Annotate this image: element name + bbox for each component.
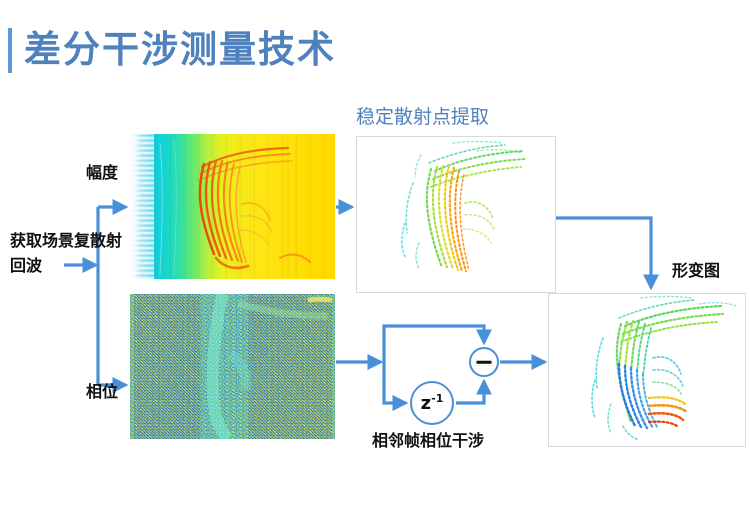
arrow-to-delay-block xyxy=(384,362,406,403)
label-extraction: 稳定散射点提取 xyxy=(356,107,489,128)
extraction-scatterer-points xyxy=(357,137,555,292)
title-accent-bar xyxy=(8,28,12,73)
deformation-field-points xyxy=(549,294,745,446)
page-title: 差分干涉测量技术 xyxy=(24,24,336,76)
delay-block-label: z-1 xyxy=(412,392,452,414)
label-interference: 相邻帧相位干涉 xyxy=(372,430,484,451)
subtract-node xyxy=(469,347,499,377)
amplitude-left-saturation xyxy=(132,134,154,279)
phase-image xyxy=(130,294,335,439)
deformation-image xyxy=(548,293,746,447)
phase-structure-overlay xyxy=(130,294,335,439)
amplitude-scan-streaks xyxy=(130,134,335,279)
delay-block-symbol: z xyxy=(421,393,431,414)
amplitude-image xyxy=(130,134,335,279)
delay-block-exponent: -1 xyxy=(431,392,443,405)
label-input-signal: 获取场景复散射回波 xyxy=(10,228,126,278)
extraction-image xyxy=(356,136,556,293)
label-phase: 相位 xyxy=(86,381,118,402)
delay-block-node: z-1 xyxy=(410,381,454,425)
arrow-extraction-to-deformation xyxy=(556,218,651,288)
arrow-delay-to-subtract xyxy=(456,381,484,403)
minus-icon xyxy=(477,361,492,364)
slide-canvas: 差分干涉测量技术 xyxy=(0,0,750,529)
label-deformation: 形变图 xyxy=(672,260,720,281)
label-amplitude: 幅度 xyxy=(86,162,118,183)
